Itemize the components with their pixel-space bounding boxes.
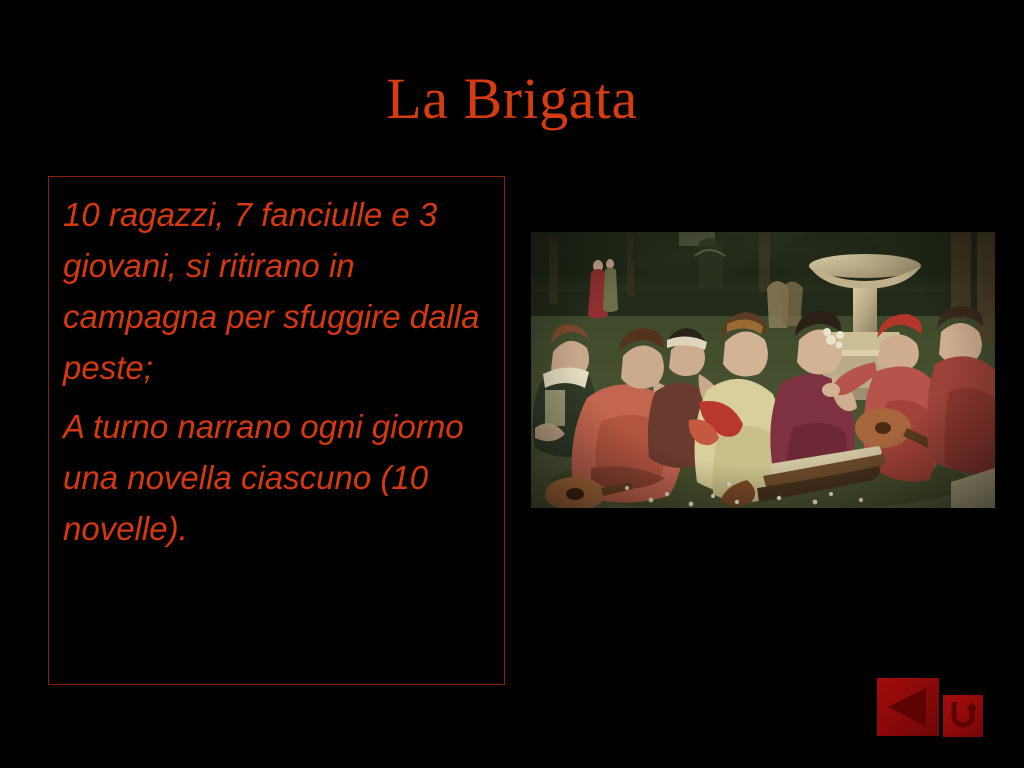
back-button[interactable] [877, 678, 939, 736]
presentation-slide: La Brigata 10 ragazzi, 7 fanciulle e 3 g… [0, 0, 1024, 768]
painting-frame [531, 232, 995, 508]
body-paragraph-2: A turno narrano ogni giorno una novella … [63, 401, 490, 554]
u-turn-arrow-icon [950, 701, 976, 730]
content-text-box: 10 ragazzi, 7 fanciulle e 3 giovani, si … [48, 176, 505, 685]
body-paragraph-1: 10 ragazzi, 7 fanciulle e 3 giovani, si … [63, 189, 490, 393]
back-triangle-icon [888, 688, 926, 726]
decameron-painting-image [531, 232, 995, 508]
return-button[interactable] [943, 695, 983, 737]
page-title: La Brigata [0, 68, 1024, 130]
